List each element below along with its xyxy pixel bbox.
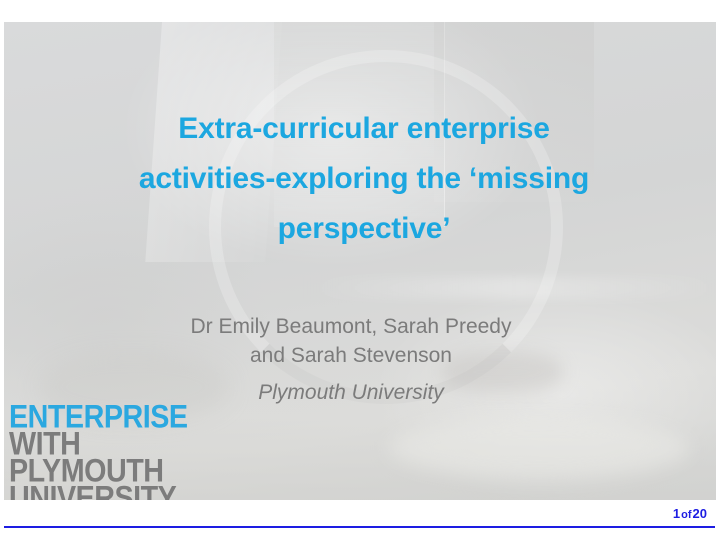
background-streak [304,277,716,299]
slide-title: Extra-curricular enterprise activities-e… [64,104,664,254]
page-indicator: 1of20 [673,506,707,521]
slide-byline: Dr Emily Beaumont, Sarah Preedy and Sara… [116,312,586,408]
title-line: activities-exploring the ‘missing [64,154,664,204]
title-line: perspective’ [64,204,664,254]
title-line: Extra-curricular enterprise [64,104,664,154]
slide-footer: 1of20 [0,500,720,540]
author-line: Dr Emily Beaumont, Sarah Preedy [116,312,586,341]
logo-line-university: UNIVERSITY [9,484,188,500]
presentation-slide: Extra-curricular enterprise activities-e… [4,22,716,500]
page-total: 20 [693,506,707,521]
footer-divider [4,526,715,528]
author-line: and Sarah Stevenson [116,341,586,370]
page-separator: of [680,509,692,521]
background-blur-shape [389,417,689,479]
slide-viewer: Extra-curricular enterprise activities-e… [0,0,720,540]
enterprise-plymouth-university-logo: ENTERPRISE WITH PLYMOUTH UNIVERSITY [9,403,189,500]
